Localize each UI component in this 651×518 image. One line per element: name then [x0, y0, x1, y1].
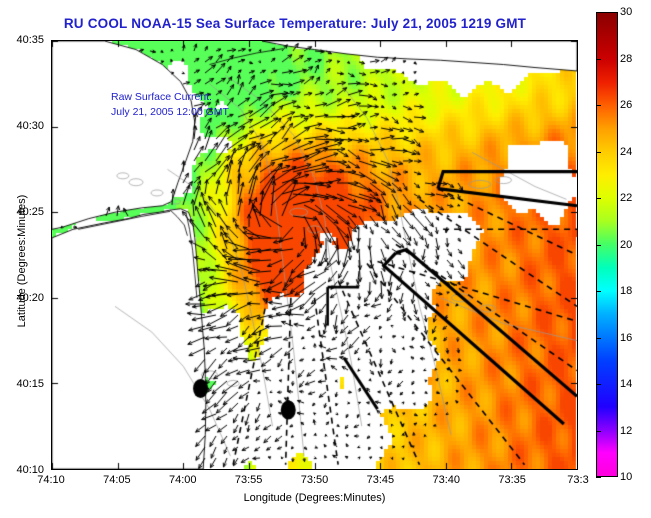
colorbar-tick-24: 24: [620, 146, 632, 158]
colorbar-tick-30: 30: [620, 6, 632, 18]
y-tick-40-30: 40:30: [0, 120, 44, 132]
colorbar-tick-26: 26: [620, 99, 632, 111]
colorbar-tickmark: [596, 198, 601, 199]
x-axis-label: Longitude (Degrees:Minutes): [51, 492, 578, 504]
current-annotation-line1: Raw Surface Current:: [111, 91, 212, 103]
x-tick-73-50: 73:50: [290, 474, 340, 486]
colorbar-tickmark: [596, 291, 601, 292]
colorbar-tick-22: 22: [620, 192, 632, 204]
colorbar-tick-10: 10: [620, 471, 632, 483]
figure-title: RU COOL NOAA-15 Sea Surface Temperature:…: [0, 16, 590, 31]
colorbar-tick-18: 18: [620, 285, 632, 297]
y-tick-40-15: 40:15: [0, 378, 44, 390]
colorbar-tickmark: [596, 105, 601, 106]
colorbar-tickmark: [596, 384, 601, 385]
current-annotation-line2: July 21, 2005 12:00 GMT: [111, 106, 229, 118]
colorbar-tickmark: [596, 152, 601, 153]
colorbar-tickmark: [596, 59, 601, 60]
colorbar-tickmark: [596, 431, 601, 432]
colorbar-tick-16: 16: [620, 332, 632, 344]
colorbar-tickmark: [596, 245, 601, 246]
y-tick-40-35: 40:35: [0, 34, 44, 46]
x-tick-73-45: 73:45: [355, 474, 405, 486]
sst-map-figure: RU COOL NOAA-15 Sea Surface Temperature:…: [0, 0, 651, 518]
colorbar-tick-14: 14: [620, 378, 632, 390]
colorbar-tick-28: 28: [620, 53, 632, 65]
x-tick-74-05: 74:05: [92, 474, 142, 486]
y-axis-label: Latitude (Degrees:Minutes): [16, 171, 28, 351]
colorbar-tick-12: 12: [620, 425, 632, 437]
colorbar-tick-20: 20: [620, 239, 632, 251]
x-tick-73-55: 73:55: [224, 474, 274, 486]
x-tick-74-10: 74:10: [26, 474, 76, 486]
colorbar-tickmark: [596, 12, 601, 13]
colorbar-tickmark: [596, 477, 601, 478]
x-tick-74-00: 74:00: [158, 474, 208, 486]
map-plot-area: Raw Surface Current: July 21, 2005 12:00…: [51, 40, 578, 470]
colorbar-tickmark: [596, 338, 601, 339]
x-tick-73-40: 73:40: [421, 474, 471, 486]
x-tick-73-35: 73:35: [487, 474, 537, 486]
